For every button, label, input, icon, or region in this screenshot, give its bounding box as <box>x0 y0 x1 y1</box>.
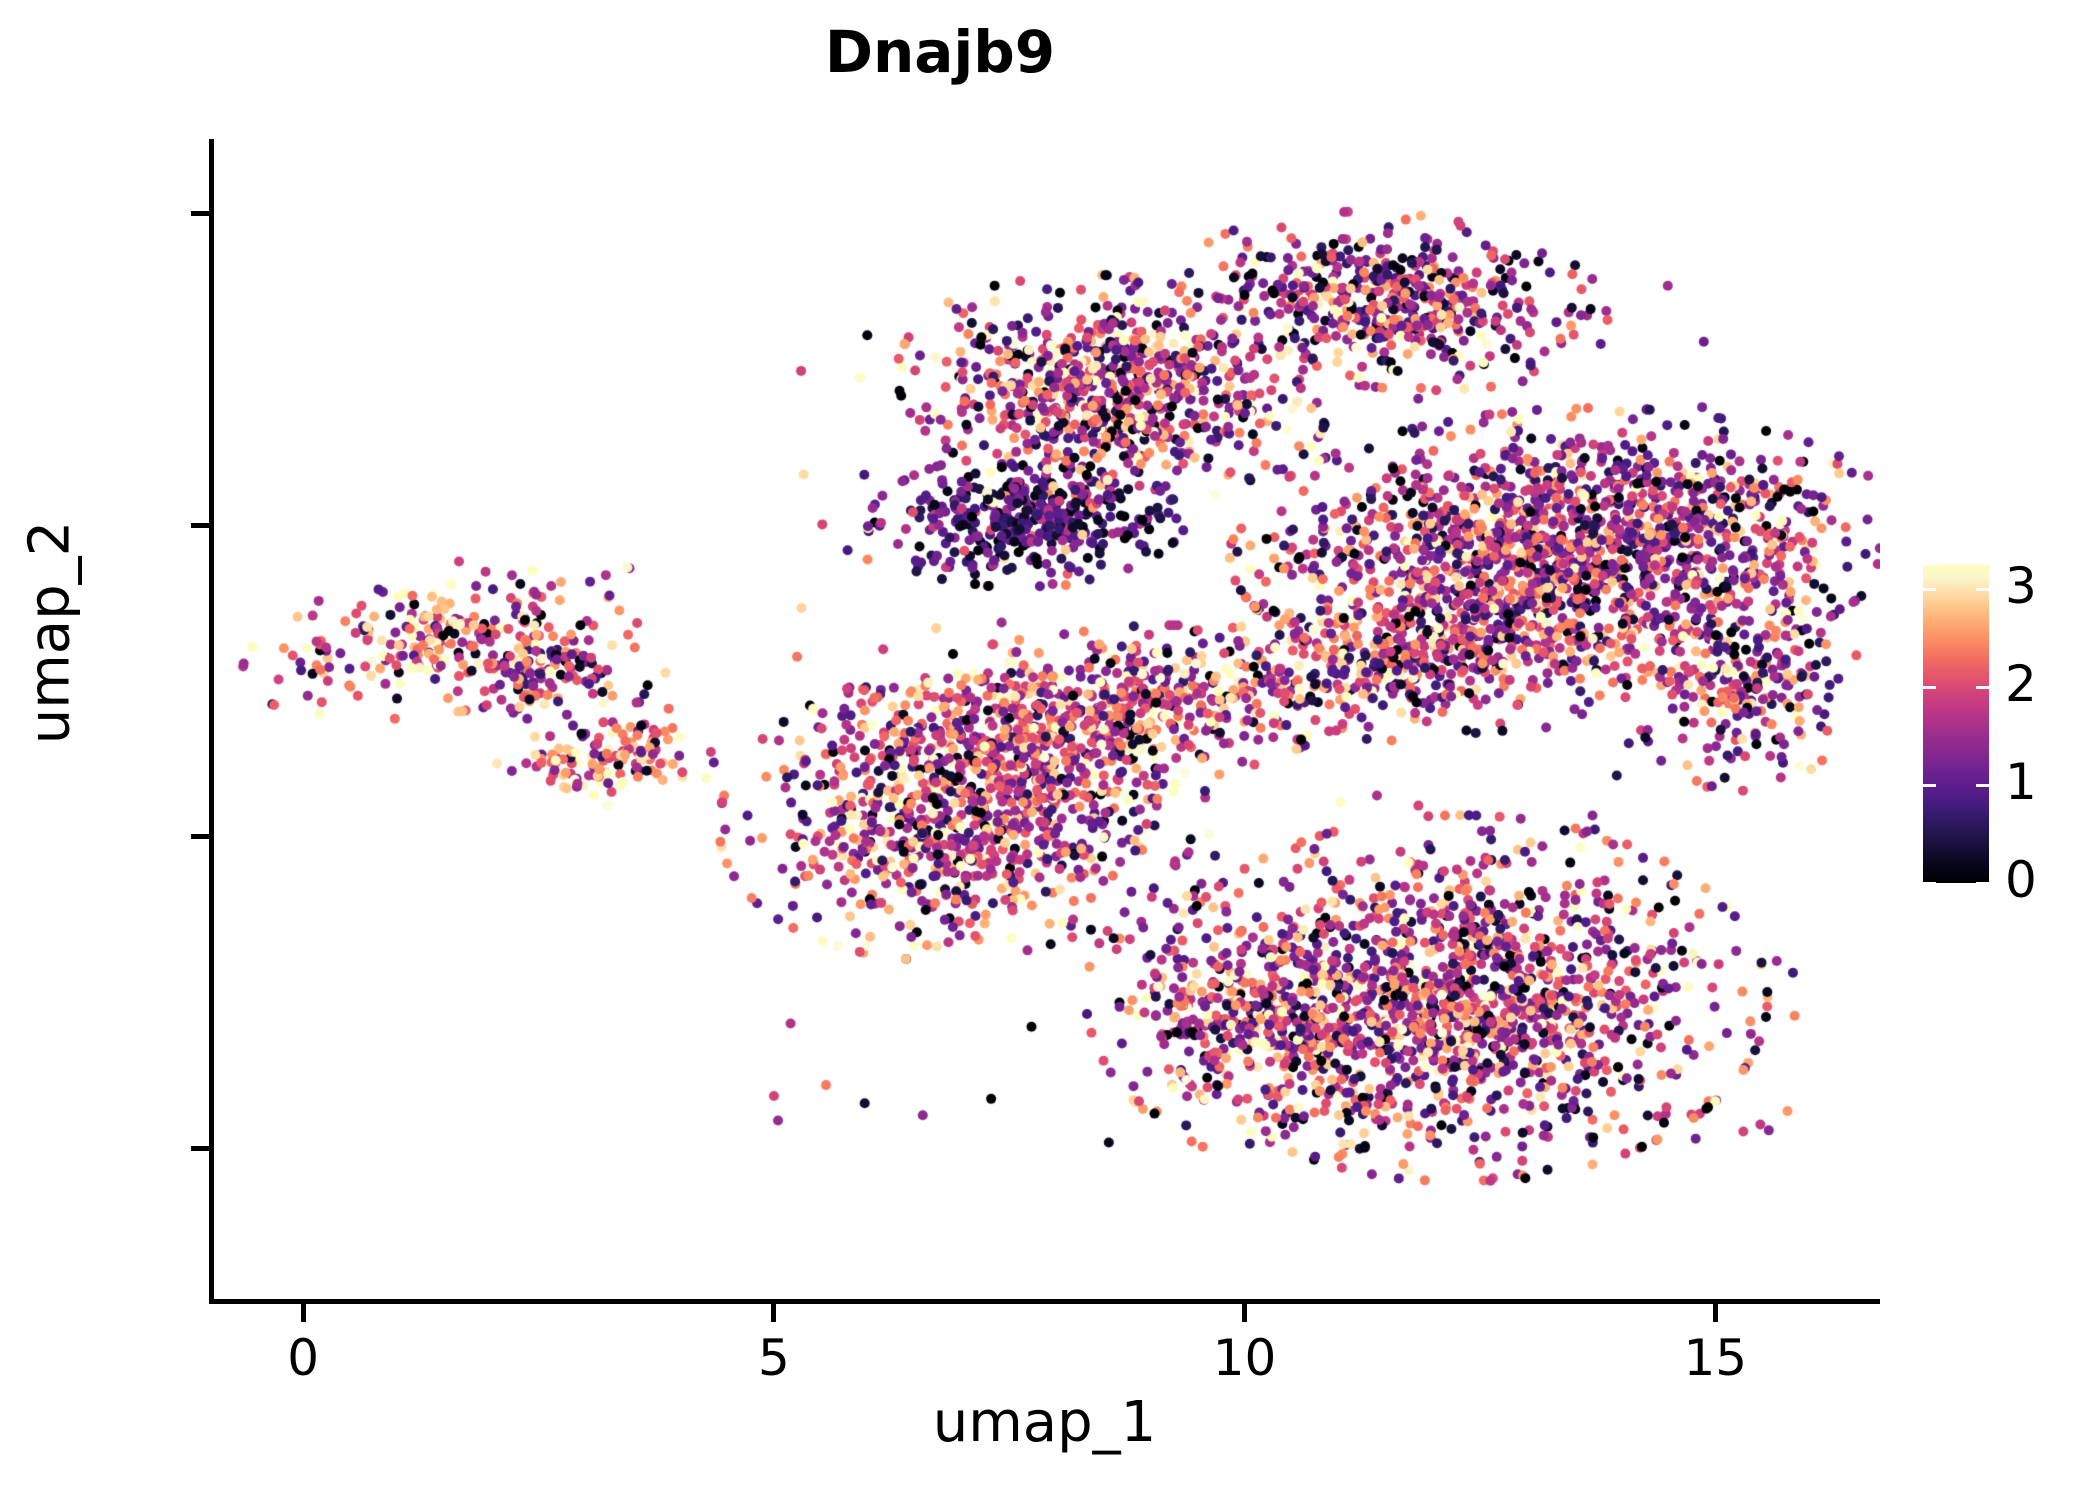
y-axis-label: umap_2 <box>18 313 83 953</box>
y-tick-mark <box>191 834 209 839</box>
colorbar-tick-label: 1 <box>2005 753 2037 811</box>
colorbar-tick-label: 0 <box>2005 851 2037 909</box>
x-tick-mark <box>1242 1304 1247 1322</box>
y-tick-mark <box>191 523 209 528</box>
x-axis-label: umap_1 <box>209 1390 1880 1455</box>
page-title: Dnajb9 <box>0 18 1880 86</box>
x-tick-label: 0 <box>223 1329 383 1387</box>
colorbar-tick-label: 3 <box>2005 557 2037 615</box>
x-tick-label: 5 <box>694 1329 854 1387</box>
y-tick-mark <box>191 211 209 216</box>
plot-axes: 051015 051015 <box>209 139 1880 1304</box>
x-tick-label: 10 <box>1165 1329 1325 1387</box>
colorbar-gradient <box>1923 565 1989 883</box>
x-axis-spine <box>209 1299 1880 1304</box>
umap-scatter-figure: Dnajb9 051015 051015 umap_1 umap_2 0123 <box>0 0 2100 1500</box>
x-tick-mark <box>1713 1304 1718 1322</box>
y-tick-mark <box>191 1146 209 1151</box>
x-tick-label: 15 <box>1635 1329 1795 1387</box>
colorbar-tick-label: 2 <box>2005 655 2037 713</box>
x-tick-mark <box>301 1304 306 1322</box>
scatter-plot-canvas <box>214 139 1880 1299</box>
colorbar: 0123 <box>1923 565 1989 883</box>
x-tick-mark <box>771 1304 776 1322</box>
